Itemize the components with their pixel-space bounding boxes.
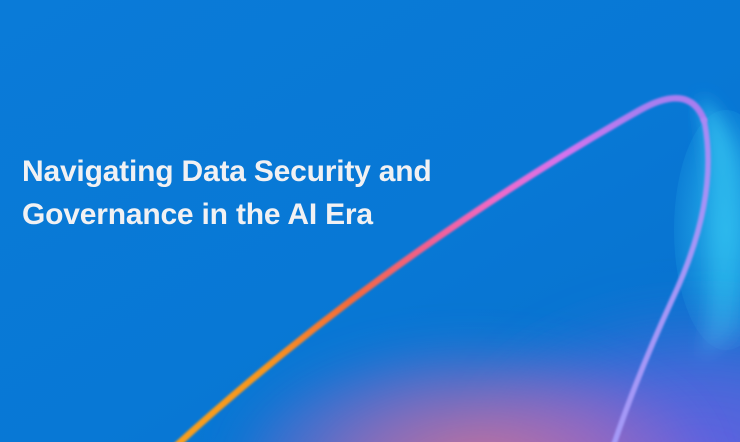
banner-title-line-1: Navigating Data Security and [22, 150, 492, 193]
banner-title-line-2: Governance in the AI Era [22, 193, 492, 236]
banner-title: Navigating Data Security and Governance … [22, 150, 492, 236]
banner-hero: Navigating Data Security and Governance … [0, 0, 740, 442]
